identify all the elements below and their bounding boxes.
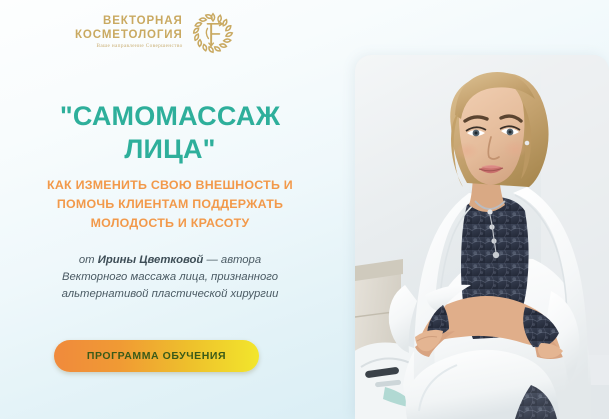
subtitle-line: КАК ИЗМЕНИТЬ СВОЮ ВНЕШНОСТЬ И [16, 176, 324, 195]
page-title: "САМОМАССАЖ ЛИЦА" [16, 100, 324, 166]
author-line-primary: от Ирины Цветковой — автора [16, 252, 324, 269]
author-line-tertiary: альтернативой пластической хирургии [16, 286, 324, 303]
logo-line-primary: ВЕКТОРНАЯ [75, 16, 183, 28]
landing-page: ВЕКТОРНАЯ КОСМЕТОЛОГИЯ Ваше направление … [0, 0, 609, 419]
author-suffix: — автора [203, 254, 261, 266]
subtitle-line: ПОМОЧЬ КЛИЕНТАМ ПОДДЕРЖАТЬ [16, 195, 324, 214]
logo-wordmark: ВЕКТОРНАЯ КОСМЕТОЛОГИЯ Ваше направление … [75, 16, 183, 49]
author-attribution: от Ирины Цветковой — автора Векторного м… [16, 252, 324, 303]
cosmetologist-photo [355, 55, 609, 419]
program-cta-button[interactable]: ПРОГРАММА ОБУЧЕНИЯ [54, 340, 259, 372]
author-name: Ирины Цветковой [98, 254, 204, 266]
brand-logo[interactable]: ВЕКТОРНАЯ КОСМЕТОЛОГИЯ Ваше направление … [75, 10, 236, 56]
subtitle-line: МОЛОДОСТЬ И КРАСОТУ [16, 214, 324, 233]
logo-line-secondary: КОСМЕТОЛОГИЯ [75, 30, 183, 42]
logo-tagline: Ваше направление Совершенство [75, 44, 183, 49]
author-prefix: от [79, 254, 98, 266]
page-subtitle: КАК ИЗМЕНИТЬ СВОЮ ВНЕШНОСТЬ И ПОМОЧЬ КЛИ… [16, 176, 324, 233]
flower-monogram-icon [190, 10, 236, 56]
author-line-secondary: Векторного массажа лица, признанного [16, 269, 324, 286]
